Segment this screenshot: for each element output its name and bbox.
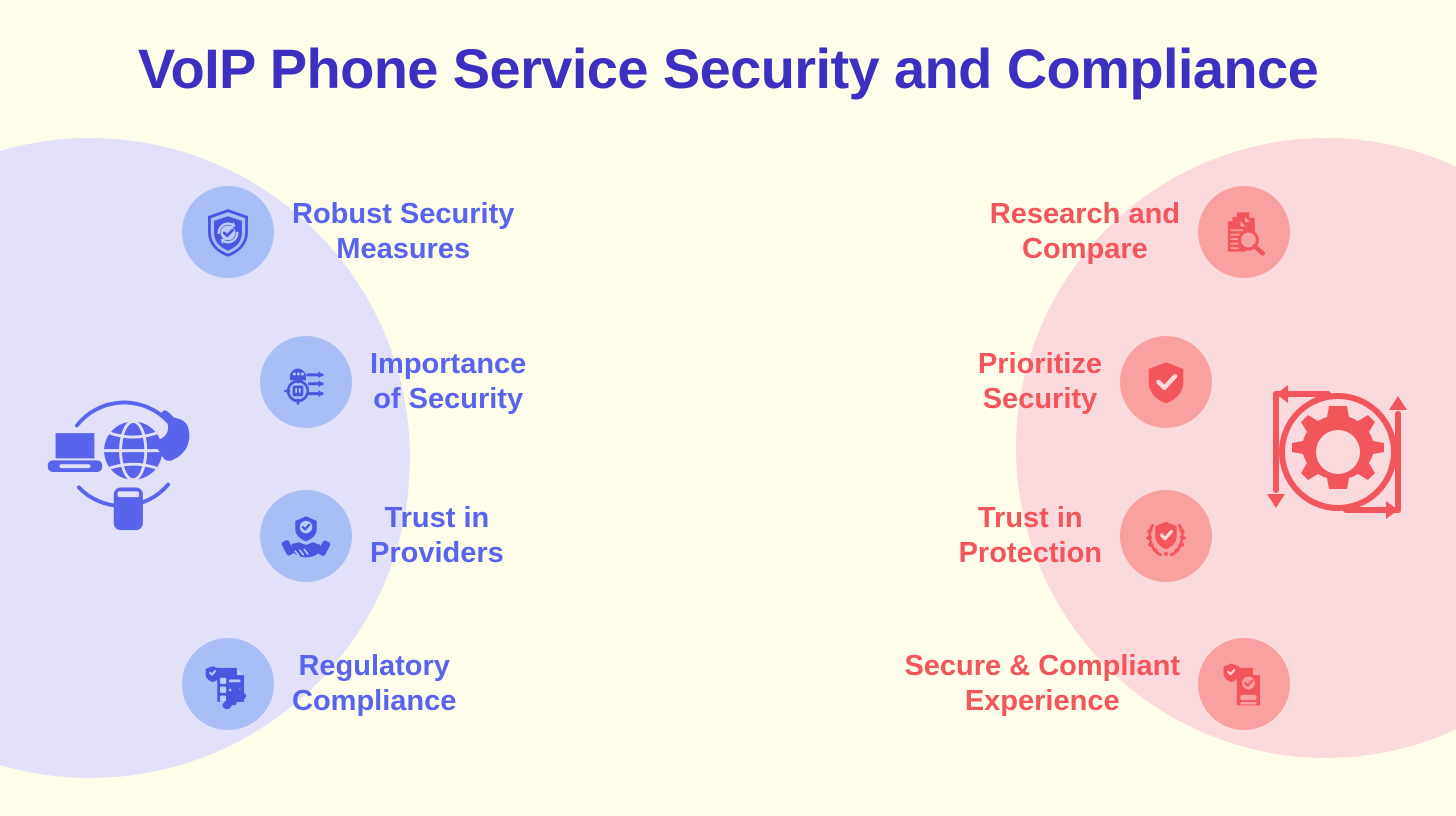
list-item-label: Secure & Compliant Experience [904,649,1180,720]
right-items-column: Research and Compare [700,138,1320,816]
laurel-shield-check-icon [1120,490,1212,582]
list-item[interactable]: Secure & Compliant Experience [904,638,1290,730]
list-item-label: Regulatory Compliance [292,649,456,720]
handshake-shield-icon [260,490,352,582]
list-item[interactable]: Regulatory Compliance [182,638,456,730]
list-item-label: Trust in Providers [370,501,504,572]
list-item[interactable]: Trust in Providers [260,490,504,582]
page-title: VoIP Phone Service Security and Complian… [138,41,1318,97]
list-item[interactable]: Importance of Security [260,336,526,428]
left-items-column: Robust Security Measures [150,138,770,816]
certificate-shield-icon [1198,638,1290,730]
list-item-label: Importance of Security [370,347,526,418]
list-item-label: Research and Compare [990,197,1180,268]
security-settings-flow-icon [260,336,352,428]
shield-refresh-check-icon [182,186,274,278]
list-item-label: Prioritize Security [978,347,1102,418]
list-item[interactable]: Prioritize Security [978,336,1212,428]
documents-magnifier-icon [1198,186,1290,278]
shield-check-solid-icon [1120,336,1212,428]
list-item[interactable]: Robust Security Measures [182,186,514,278]
list-item[interactable]: Research and Compare [990,186,1290,278]
list-item-label: Robust Security Measures [292,197,514,268]
checklist-gavel-icon [182,638,274,730]
list-item[interactable]: Trust in Protection [959,490,1212,582]
list-item-label: Trust in Protection [959,501,1102,572]
infographic-canvas: VoIP Phone Service Security and Complian… [0,0,1456,816]
title-bar: VoIP Phone Service Security and Complian… [0,0,1456,138]
